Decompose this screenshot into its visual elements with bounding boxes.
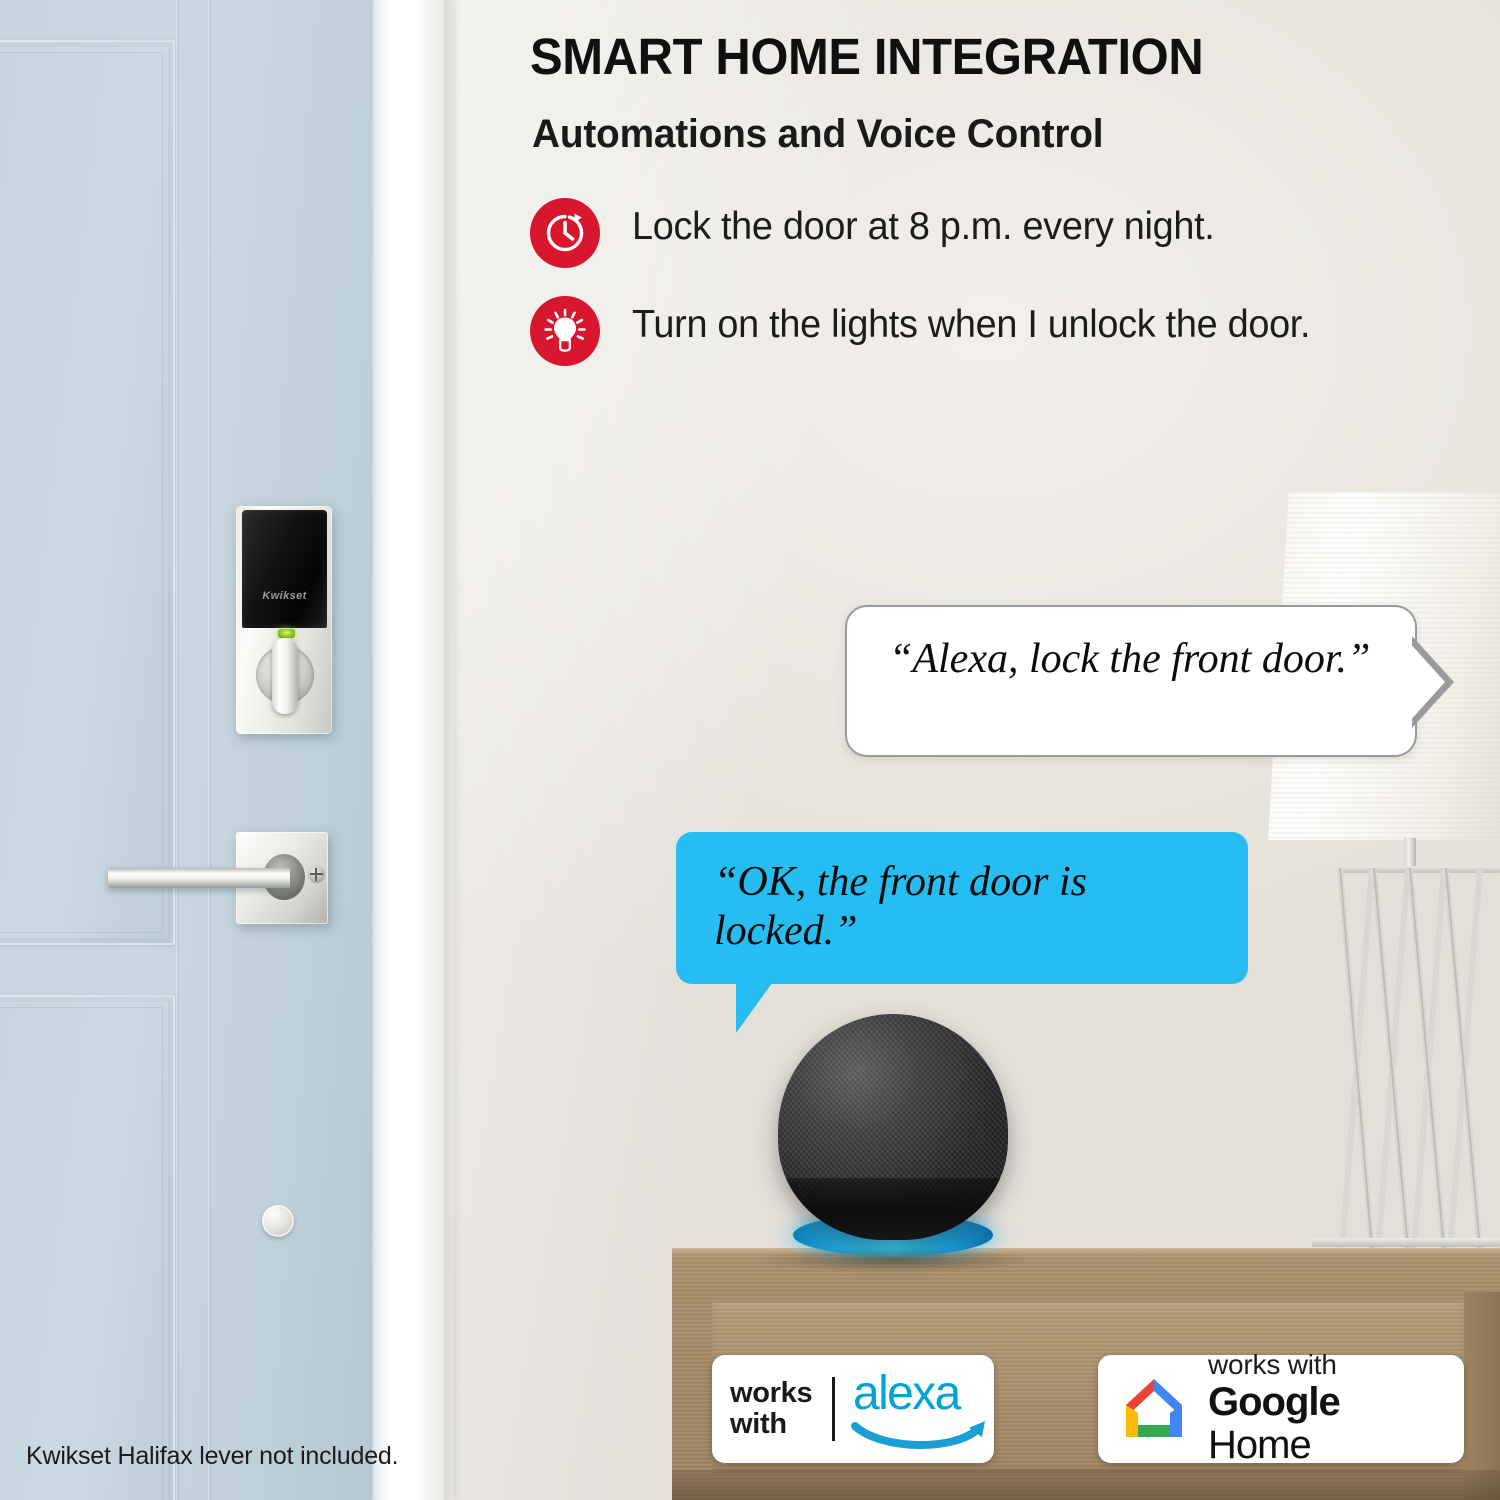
smart-lock-status-led bbox=[278, 629, 295, 638]
assistant-response-bubble: “OK, the front door is locked.” bbox=[676, 832, 1248, 984]
door-panel-upper bbox=[0, 40, 175, 945]
smart-lock-touchscreen bbox=[242, 510, 327, 628]
badge-divider bbox=[832, 1377, 835, 1441]
door-panel-lower bbox=[0, 995, 175, 1500]
front-door bbox=[0, 0, 372, 1500]
list-item: Turn on the lights when I unlock the doo… bbox=[530, 296, 1480, 366]
works-with-google-home-badge: works with Google Home bbox=[1098, 1355, 1464, 1463]
door-casing bbox=[372, 0, 454, 1500]
google-home-wordmark: Google Home bbox=[1208, 1381, 1448, 1467]
page-title: SMART HOME INTEGRATION bbox=[530, 30, 1432, 84]
table-shadow bbox=[672, 1470, 1500, 1500]
user-bubble-tail-fill bbox=[1408, 641, 1445, 723]
lamp-base-plate bbox=[1312, 1238, 1500, 1247]
user-voice-command-bubble: “Alexa, lock the front door.” bbox=[845, 605, 1417, 757]
google-wordmark: Google bbox=[1208, 1380, 1340, 1424]
lamp-wire-cage bbox=[1312, 868, 1500, 1250]
list-item-label: Lock the door at 8 p.m. every night. bbox=[632, 198, 1215, 250]
works-with-label: works with bbox=[1208, 1350, 1448, 1381]
feature-list: Lock the door at 8 p.m. every night. bbox=[530, 198, 1480, 394]
google-home-house-icon bbox=[1114, 1369, 1194, 1449]
product-marketing-image: Kwikset SMART HOME INTEGRATION Automatio… bbox=[0, 0, 1500, 1500]
disclaimer-text: Kwikset Halifax lever not included. bbox=[26, 1442, 398, 1471]
assistant-response-text: “OK, the front door is locked.” bbox=[676, 832, 1248, 979]
casing-bead bbox=[444, 0, 454, 1500]
kwikset-brand-label: Kwikset bbox=[242, 590, 327, 602]
smart-lock-thumbturn bbox=[272, 638, 298, 714]
list-item-label: Turn on the lights when I unlock the doo… bbox=[632, 296, 1310, 348]
list-item: Lock the door at 8 p.m. every night. bbox=[530, 198, 1480, 268]
echo-dot-shadow bbox=[760, 1248, 1030, 1272]
door-bumper-icon bbox=[262, 1205, 294, 1237]
with-label: with bbox=[730, 1409, 812, 1440]
assistant-bubble-tail bbox=[736, 975, 778, 1033]
alexa-wordmark: alexa bbox=[853, 1370, 960, 1418]
user-voice-command-text: “Alexa, lock the front door.” bbox=[847, 607, 1415, 710]
clock-timer-icon bbox=[530, 198, 600, 268]
echo-dot-speaker bbox=[778, 1014, 1008, 1240]
table-right-leg bbox=[1464, 1292, 1500, 1500]
amazon-smile-icon bbox=[851, 1418, 993, 1452]
door-lever-handle bbox=[108, 868, 290, 888]
screw-icon bbox=[308, 866, 325, 883]
alexa-logo: alexa bbox=[853, 1368, 976, 1450]
works-with-alexa-badge: works with alexa bbox=[712, 1355, 994, 1463]
home-wordmark: Home bbox=[1208, 1423, 1311, 1467]
google-home-text: works with Google Home bbox=[1208, 1350, 1448, 1467]
lightbulb-icon bbox=[530, 296, 600, 366]
works-label: works bbox=[730, 1378, 812, 1409]
works-with-label: works with bbox=[730, 1378, 812, 1439]
page-subtitle: Automations and Voice Control bbox=[532, 112, 1444, 157]
